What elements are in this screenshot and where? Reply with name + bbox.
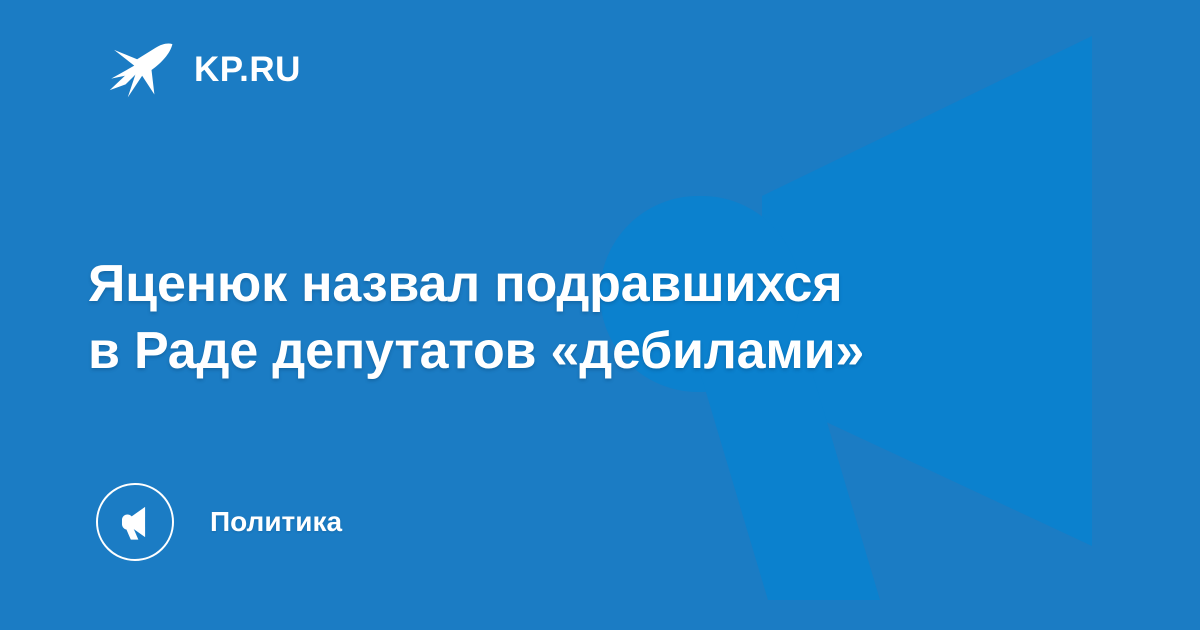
share-card: KP.RU Яценюк назвал подравшихся в Раде д…: [0, 0, 1200, 630]
headline-line-1: Яценюк назвал подравшихся: [88, 251, 1098, 319]
brand-logo[interactable]: KP.RU: [104, 34, 301, 106]
megaphone-icon: [114, 501, 156, 543]
category-icon-circle: [96, 483, 174, 561]
headline: Яценюк назвал подравшихся в Раде депутат…: [88, 251, 1098, 386]
category-badge[interactable]: Политика: [96, 483, 342, 561]
swallow-bird-icon: [104, 34, 176, 106]
category-label: Политика: [210, 508, 342, 536]
headline-line-2: в Раде депутатов «дебилами»: [88, 318, 1098, 386]
brand-wordmark: KP.RU: [194, 52, 301, 89]
